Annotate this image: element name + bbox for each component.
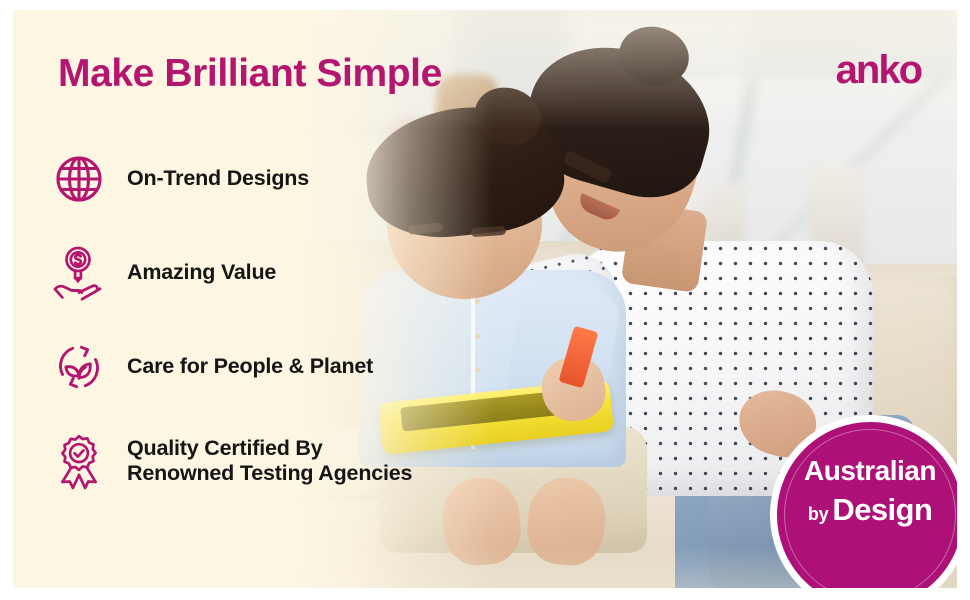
promo-banner: Make Brilliant Simple anko On-Trend De bbox=[0, 0, 970, 600]
banner-canvas: Make Brilliant Simple anko On-Trend De bbox=[13, 10, 957, 588]
anko-logo: anko bbox=[836, 50, 921, 90]
badge-text: Australian byDesign bbox=[777, 456, 957, 527]
feature-list: On-Trend Designs bbox=[43, 143, 463, 497]
feature-label-line2: Renowned Testing Agencies bbox=[127, 461, 412, 485]
globe-icon bbox=[43, 153, 115, 205]
award-check-icon bbox=[43, 432, 115, 490]
feature-item-on-trend-designs: On-Trend Designs bbox=[43, 143, 463, 215]
feature-label: Care for People & Planet bbox=[127, 354, 373, 379]
badge-line-australian: Australian bbox=[777, 456, 957, 487]
feature-label-line1: Quality Certified By bbox=[127, 436, 323, 460]
feature-label: Quality Certified By Renowned Testing Ag… bbox=[127, 436, 412, 487]
recycle-leaf-icon bbox=[43, 339, 115, 395]
page-title: Make Brilliant Simple bbox=[58, 52, 442, 96]
badge-word-design: Design bbox=[832, 492, 932, 527]
badge-line-by-design: byDesign bbox=[777, 493, 957, 527]
feature-label: Amazing Value bbox=[127, 260, 276, 285]
feature-item-quality-certified: Quality Certified By Renowned Testing Ag… bbox=[43, 425, 463, 497]
feature-item-care-for-people-planet: Care for People & Planet bbox=[43, 331, 463, 403]
badge-word-by: by bbox=[808, 504, 829, 524]
hand-coin-icon bbox=[43, 245, 115, 301]
feature-label: On-Trend Designs bbox=[127, 166, 309, 191]
feature-item-amazing-value: Amazing Value bbox=[43, 237, 463, 309]
